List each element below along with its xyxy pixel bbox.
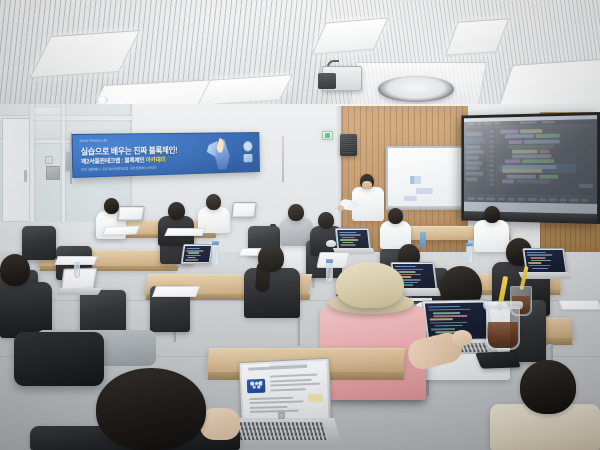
smartphone[interactable] — [475, 351, 521, 368]
laptop-screen — [183, 246, 211, 262]
laptop-logo — [278, 412, 285, 419]
bottle-cap — [212, 241, 219, 245]
paper-sheet — [102, 225, 140, 235]
laptop — [335, 228, 371, 250]
ide-code-area — [497, 125, 597, 196]
ide-file-tree — [464, 127, 488, 195]
laptop-screen — [119, 208, 143, 219]
projected-ide — [464, 119, 597, 204]
laptop — [522, 248, 568, 274]
bottle-cap — [466, 243, 473, 246]
whiteboard-writing — [404, 196, 422, 201]
attendee-hand — [452, 330, 472, 346]
attendee-torso — [474, 220, 509, 252]
attendee-head — [520, 360, 576, 414]
ide-tree-row — [466, 166, 480, 170]
attendee-head — [484, 206, 500, 223]
banner-badge-icon — [243, 141, 252, 151]
speaker-grill-icon — [342, 137, 355, 153]
wall-vent-icon — [46, 166, 60, 180]
bag — [14, 332, 104, 386]
laptop-screen — [337, 230, 369, 248]
instructor-hand — [337, 205, 344, 211]
water-bottle — [420, 232, 426, 247]
projector-lens-icon — [318, 73, 336, 89]
ide-tree-row — [466, 156, 479, 160]
banner-logo: Seoul Fintech Lab — [79, 139, 107, 143]
laptop — [231, 202, 257, 218]
ide-tree-row — [466, 145, 481, 149]
laptop-base — [56, 288, 101, 295]
window-mullion — [62, 104, 65, 222]
attendee-head — [104, 198, 119, 214]
paper-sheet — [558, 300, 600, 310]
projection-screen — [461, 112, 600, 224]
cup-lid — [483, 301, 523, 309]
ide-tab — [520, 122, 536, 124]
event-banner: Seoul Fintech Lab 실습으로 배우는 진짜 블록체인! 제2서울… — [72, 132, 260, 178]
projection-surface — [464, 115, 597, 214]
laptop-screen — [242, 361, 329, 420]
attendee-head — [206, 194, 221, 210]
laptop-screen — [524, 250, 565, 272]
water-bottle — [326, 262, 333, 282]
paper-sheet — [164, 228, 206, 236]
water-bottle — [74, 262, 80, 278]
foreground-attendee-hand — [200, 408, 240, 440]
ide-menu-item — [494, 123, 499, 125]
attendee-head — [288, 204, 304, 221]
water-bottle — [212, 244, 219, 266]
banner-badge-icon — [244, 154, 253, 162]
attendee-head — [258, 244, 284, 272]
whiteboard-writing — [410, 176, 434, 184]
banner-subtitle-accent: 아카데미 — [146, 157, 166, 164]
ide-run-button[interactable] — [578, 183, 593, 187]
glass-pane — [34, 108, 60, 138]
ide-tree-row — [466, 177, 478, 181]
window-mullion — [30, 104, 34, 222]
laptop — [181, 244, 214, 264]
coffee-liquid — [488, 322, 518, 348]
air-diffuser-icon — [378, 76, 454, 102]
bottle-cap — [326, 259, 333, 263]
foreground-laptop — [239, 358, 332, 423]
ide-tree-row — [466, 172, 483, 176]
tissue-box — [316, 252, 349, 268]
app-icon-glyph — [249, 381, 262, 389]
attendee-head — [388, 208, 403, 224]
ide-line-numbers — [488, 127, 497, 195]
laptop — [117, 206, 145, 221]
instructor-face — [362, 181, 372, 189]
highlight-block — [308, 394, 322, 402]
door-handle-icon[interactable] — [24, 170, 27, 182]
classroom-photo: Seoul Fintech Lab 실습으로 배우는 진짜 블록체인! 제2서울… — [0, 0, 600, 450]
water-bottle — [466, 246, 473, 264]
document-header — [248, 365, 307, 370]
ide-menu-item — [477, 123, 482, 125]
paper-sheet — [152, 286, 200, 297]
laptop-screen — [233, 204, 254, 216]
ide-statusbar — [464, 195, 597, 204]
whiteboard-writing — [416, 188, 446, 194]
ide-menu-item — [468, 123, 474, 125]
attendee-head — [0, 254, 30, 286]
computer-mouse — [326, 240, 336, 247]
downlight-icon — [96, 96, 108, 104]
ide-menu-item — [484, 123, 492, 125]
office-chair — [22, 226, 56, 260]
foreground-attendee-head — [96, 368, 206, 450]
wall-outlet-icon — [45, 156, 53, 164]
ide-tree-row — [466, 161, 482, 165]
ide-tree-selected — [464, 138, 485, 144]
exit-icon — [325, 133, 330, 138]
banner-pole — [282, 136, 284, 182]
bucket-hat — [336, 262, 404, 308]
attendee-head — [318, 212, 334, 229]
ide-tab — [542, 121, 556, 123]
attendee-torso — [244, 268, 300, 318]
attendee-head — [168, 202, 185, 220]
ide-tree-row — [466, 132, 483, 136]
ide-tree-row — [466, 150, 484, 154]
